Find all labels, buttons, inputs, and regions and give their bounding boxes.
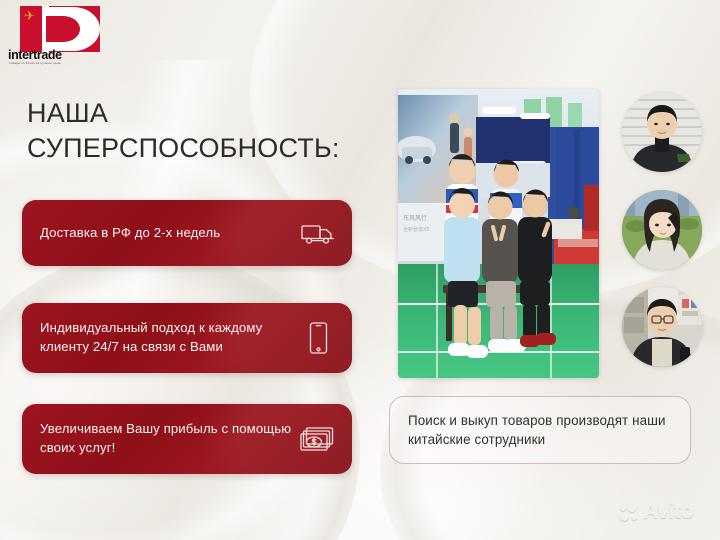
feature-card-text: Индивидуальный подход к каждому клиенту … bbox=[40, 319, 298, 356]
background-swirl-2 bbox=[0, 250, 360, 540]
feature-card-text: Увеличиваем Вашу прибыль с помощью своих… bbox=[40, 420, 298, 457]
feature-card-support[interactable]: Индивидуальный подход к каждому клиенту … bbox=[22, 303, 352, 373]
logo-wordmark: intertrade bbox=[8, 48, 62, 62]
page-title-line-1: НАША bbox=[27, 96, 387, 131]
svg-text:全新景逸X5: 全新景逸X5 bbox=[403, 226, 429, 233]
feature-card-delivery[interactable]: Доставка в РФ до 2-х недель bbox=[22, 200, 352, 266]
team-photo: 东风风行 全新景逸X5 bbox=[398, 89, 599, 378]
delivery-truck-icon bbox=[298, 221, 338, 246]
staff-avatar-1 bbox=[622, 92, 702, 172]
staff-avatar-3 bbox=[622, 287, 702, 367]
airplane-icon: ✈ bbox=[24, 9, 35, 22]
logo-tagline: товары из Китая за лучшие цены bbox=[9, 61, 61, 65]
avito-wordmark: Avito bbox=[643, 500, 693, 524]
brand-logo: ✈ intertrade товары из Китая за лучшие ц… bbox=[8, 6, 104, 68]
logo-d-inner bbox=[46, 16, 80, 42]
logo-mark-icon: ✈ bbox=[20, 6, 100, 52]
svg-text:东风风行: 东风风行 bbox=[403, 214, 427, 222]
page-title-line-2: СУПЕРСПОСОБНОСТЬ: bbox=[27, 131, 387, 166]
staff-note-text: Поиск и выкуп товаров производят наши ки… bbox=[408, 411, 672, 450]
feature-card-text: Доставка в РФ до 2-х недель bbox=[40, 224, 298, 243]
feature-card-profit[interactable]: Увеличиваем Вашу прибыль с помощью своих… bbox=[22, 404, 352, 474]
avito-dots-icon bbox=[620, 504, 639, 521]
banknotes-icon bbox=[298, 426, 338, 452]
avito-watermark: Avito bbox=[620, 500, 693, 524]
staff-avatar-2 bbox=[622, 190, 702, 270]
smartphone-icon bbox=[298, 322, 338, 354]
page-title: НАША СУПЕРСПОСОБНОСТЬ: bbox=[27, 96, 387, 165]
slide-canvas: ✈ intertrade товары из Китая за лучшие ц… bbox=[0, 0, 720, 540]
staff-note-box: Поиск и выкуп товаров производят наши ки… bbox=[389, 396, 691, 464]
